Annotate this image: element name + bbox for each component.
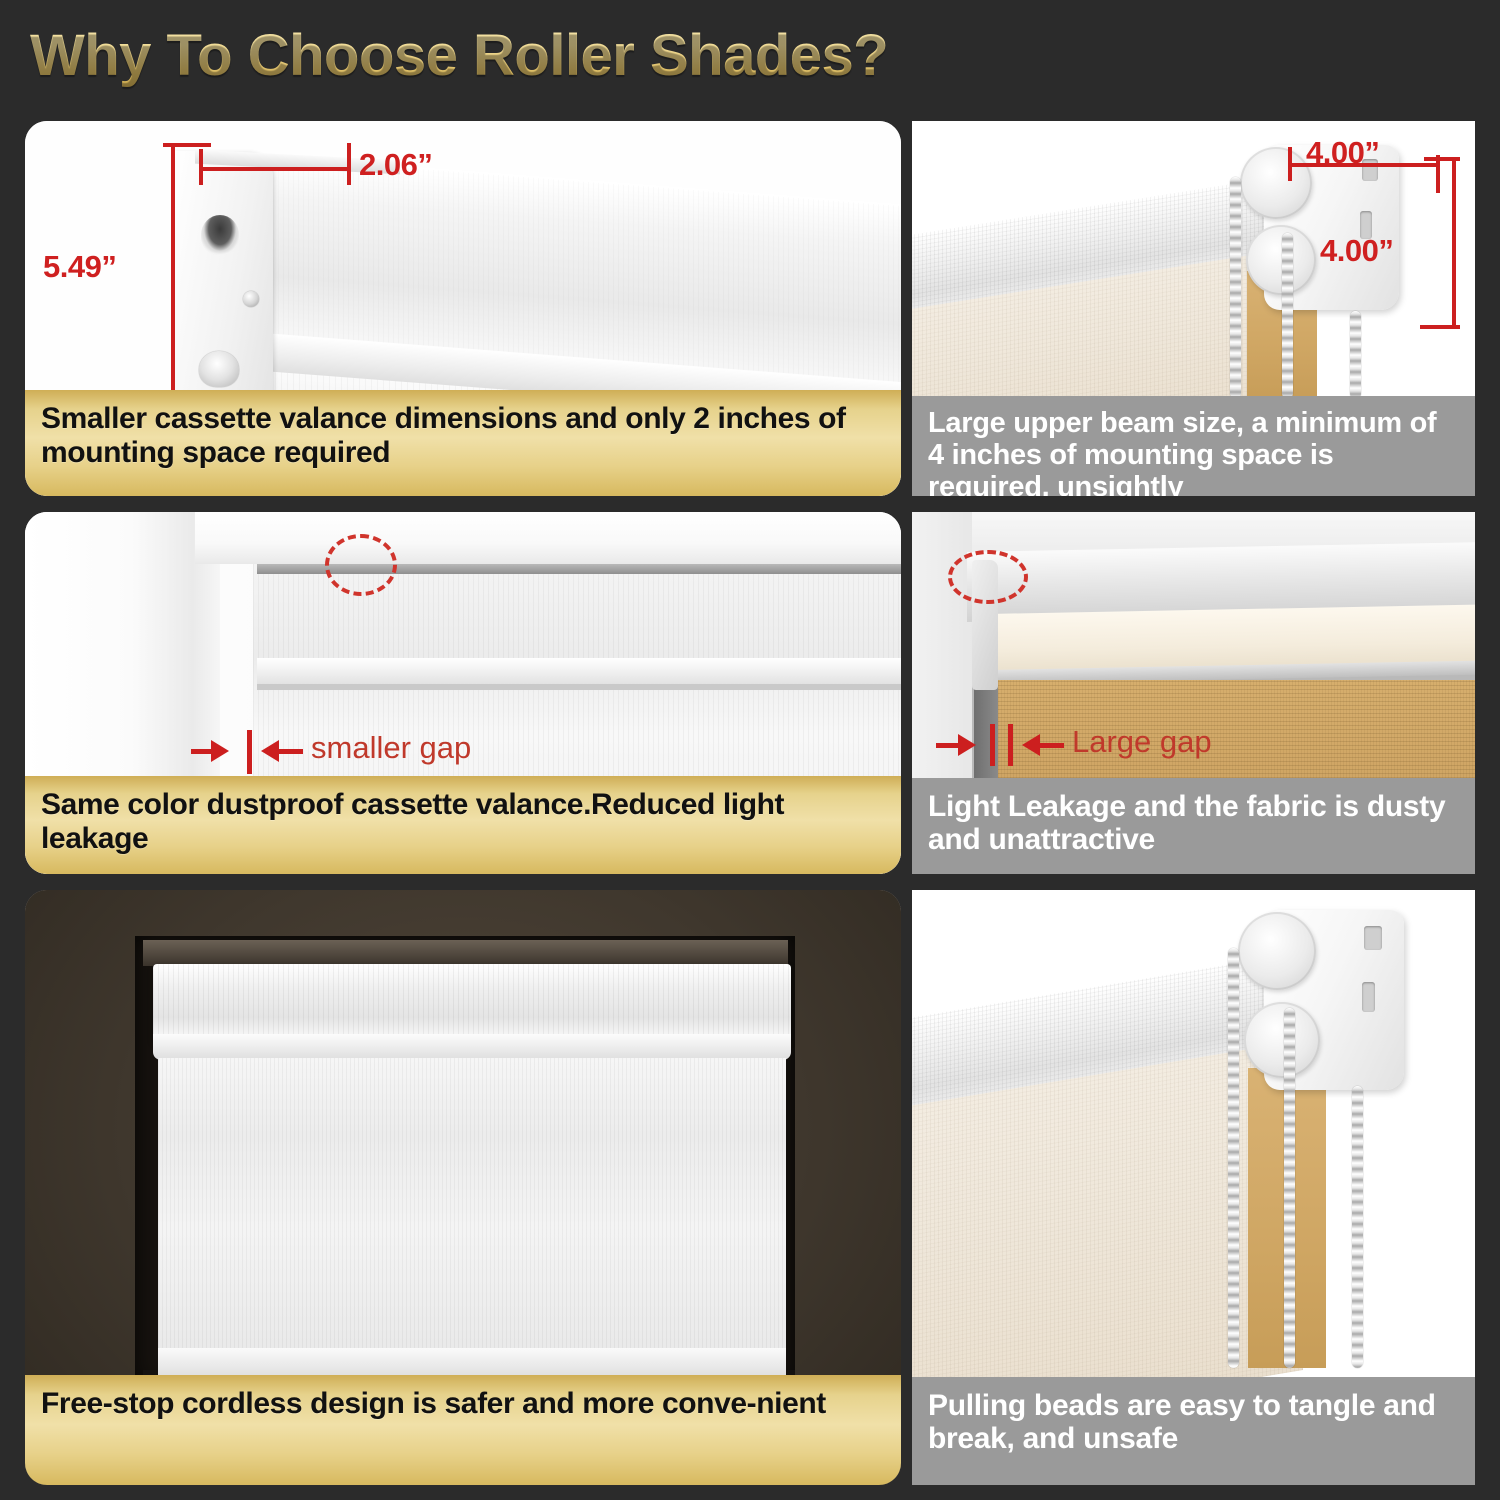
shade-bottom-hem: [158, 1348, 786, 1376]
height-dimension-label: 5.49”: [43, 249, 116, 285]
gap-marker-outer: [1008, 724, 1013, 766]
width-dimension-label: 2.06”: [359, 147, 432, 183]
cassette-screw-upper: [243, 291, 259, 307]
bracket-disc-upper: [1240, 147, 1312, 219]
bracket-height-tick-bottom: [1420, 325, 1460, 329]
roller-shade-fabric: [158, 1058, 786, 1370]
window-head-board: [143, 940, 788, 966]
panel-cordless-design: Free-stop cordless design is safer and m…: [25, 890, 901, 1485]
bracket-width-label: 4.00”: [1306, 135, 1379, 171]
panel-caption: Same color dustproof cassette valance.Re…: [25, 776, 901, 874]
panel-cassette-dimensions: 2.06” 5.49” Smaller cassette valance dim…: [25, 121, 901, 496]
bracket-height-line: [1452, 159, 1456, 329]
cassette-screw-lower: [199, 351, 239, 387]
cassette-knob: [201, 215, 239, 255]
comparison-grid: 2.06” 5.49” Smaller cassette valance dim…: [0, 105, 1500, 1500]
highlight-circle: [948, 550, 1028, 604]
panel-smaller-gap: smaller gap Same color dustproof cassett…: [25, 512, 901, 874]
cassette-mid-band: [257, 658, 901, 684]
gap-marker-inner: [990, 724, 995, 766]
cassette-shadow-line: [257, 684, 901, 690]
bracket-slot-upper: [1364, 926, 1382, 950]
panel-caption: Pulling beads are easy to tangle and bre…: [912, 1377, 1475, 1485]
gap-arrow-right-stem: [277, 749, 303, 754]
page-title: Why To Choose Roller Shades?: [30, 22, 888, 89]
panel-caption: Smaller cassette valance dimensions and …: [25, 390, 901, 496]
gap-marker: [247, 730, 252, 774]
bead-chain-left: [1228, 948, 1239, 1368]
height-dimension-line: [171, 145, 175, 413]
panel-large-upper-beam: 4.00” 4.00” Large upper beam size, a min…: [912, 121, 1475, 496]
bracket-disc-lower: [1246, 225, 1316, 295]
cassette-end-cap: [175, 151, 273, 401]
cassette-valance-lip: [153, 1034, 791, 1060]
panel-light-leakage: Large gap Light Leakage and the fabric i…: [912, 512, 1475, 874]
bracket-disc-upper: [1238, 912, 1316, 990]
gap-arrow-left-stem: [936, 743, 962, 748]
height-tick-top: [163, 143, 211, 147]
window-head-trim: [195, 512, 901, 564]
panel-caption: Free-stop cordless design is safer and m…: [25, 1375, 901, 1485]
cassette-valance: [153, 964, 791, 1040]
bead-chain-right: [1352, 1086, 1363, 1368]
highlight-circle: [325, 534, 397, 596]
panel-pulling-beads: Pulling beads are easy to tangle and bre…: [912, 890, 1475, 1485]
bracket-width-tick-left: [1288, 147, 1292, 181]
bead-chain-right: [1350, 311, 1361, 399]
gap-arrow-right-stem: [1038, 743, 1064, 748]
width-tick-left: [199, 149, 203, 185]
bead-chain-left: [1230, 177, 1241, 399]
gap-label: smaller gap: [311, 730, 471, 766]
gap-arrow-left-stem: [191, 749, 215, 754]
bracket-height-tick-top: [1424, 157, 1460, 161]
gap-label: Large gap: [1072, 724, 1212, 760]
panel-caption: Light Leakage and the fabric is dusty an…: [912, 778, 1475, 874]
bead-chain-middle: [1282, 233, 1293, 399]
bead-chain-middle: [1284, 1008, 1295, 1368]
bracket-slot-lower: [1362, 982, 1375, 1012]
bracket-disc-lower: [1244, 1002, 1320, 1078]
width-tick-right: [347, 143, 351, 185]
width-dimension-line: [201, 167, 351, 171]
panel-caption: Large upper beam size, a minimum of 4 in…: [912, 396, 1475, 496]
bracket-height-label: 4.00”: [1320, 233, 1393, 269]
